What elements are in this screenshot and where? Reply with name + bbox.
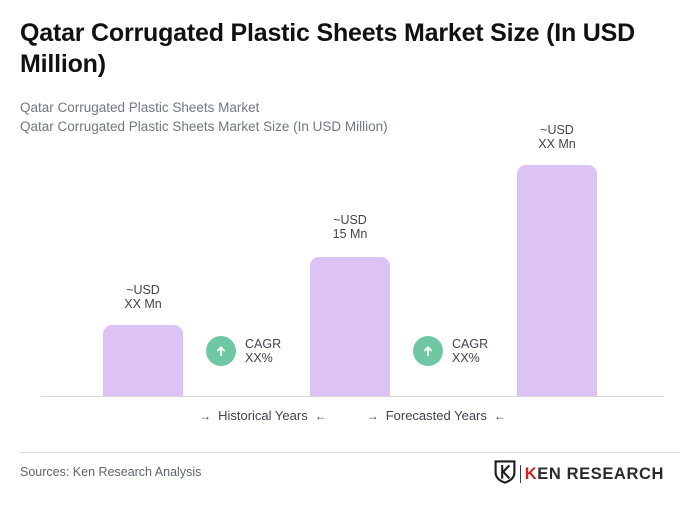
bar-interim[interactable] — [310, 257, 390, 396]
arrow-up-icon — [413, 336, 443, 366]
arrow-right-icon: → — [367, 410, 379, 422]
cagr-badge-forecast: CAGR XX% — [413, 336, 488, 366]
legend-item-historical: → Historical Years ← — [199, 408, 327, 423]
cagr-value-1: XX% — [245, 351, 281, 365]
infographic-root: Qatar Corrugated Plastic Sheets Market S… — [0, 0, 700, 520]
legend-label-forecast: Forecasted Years — [386, 408, 487, 423]
bar-value-currency-1: ~USD — [83, 283, 203, 297]
footer-divider — [20, 452, 680, 453]
bar-value-amount-3: XX Mn — [497, 137, 617, 151]
bar-value-label-3: ~USD XX Mn — [497, 123, 617, 151]
legend-item-forecast: → Forecasted Years ← — [367, 408, 506, 423]
period-legend: → Historical Years ← → Forecasted Years … — [41, 408, 664, 423]
bar-value-amount-1: XX Mn — [83, 297, 203, 311]
arrow-left-icon: ← — [494, 410, 506, 422]
logo-wordmark: KEN RESEARCH — [525, 466, 664, 483]
cagr-text-historical: CAGR XX% — [245, 337, 281, 365]
cagr-label-1: CAGR — [245, 337, 281, 351]
chart-plot-area: ~USD XX Mn ~USD 15 Mn ~USD XX Mn CAGR XX… — [0, 0, 700, 440]
arrow-up-icon — [206, 336, 236, 366]
cagr-value-2: XX% — [452, 351, 488, 365]
bar-value-label-2: ~USD 15 Mn — [290, 213, 410, 241]
logo-divider — [520, 465, 521, 483]
bar-value-label-1: ~USD XX Mn — [83, 283, 203, 311]
arrow-left-icon: ← — [315, 410, 327, 422]
x-axis-line — [41, 396, 664, 397]
bar-forecast[interactable] — [517, 165, 597, 396]
shield-logo-icon — [494, 460, 516, 489]
arrow-right-icon: → — [199, 410, 211, 422]
cagr-text-forecast: CAGR XX% — [452, 337, 488, 365]
cagr-label-2: CAGR — [452, 337, 488, 351]
sources-text: Sources: Ken Research Analysis — [20, 465, 201, 479]
bar-historical[interactable] — [103, 325, 183, 396]
bar-value-currency-2: ~USD — [290, 213, 410, 227]
logo-word-accent: K — [525, 465, 538, 483]
cagr-badge-historical: CAGR XX% — [206, 336, 281, 366]
bar-value-amount-2: 15 Mn — [290, 227, 410, 241]
legend-label-historical: Historical Years — [218, 408, 308, 423]
ken-research-logo: KEN RESEARCH — [494, 462, 664, 486]
bar-value-currency-3: ~USD — [497, 123, 617, 137]
logo-word-rest: EN RESEARCH — [537, 465, 664, 483]
